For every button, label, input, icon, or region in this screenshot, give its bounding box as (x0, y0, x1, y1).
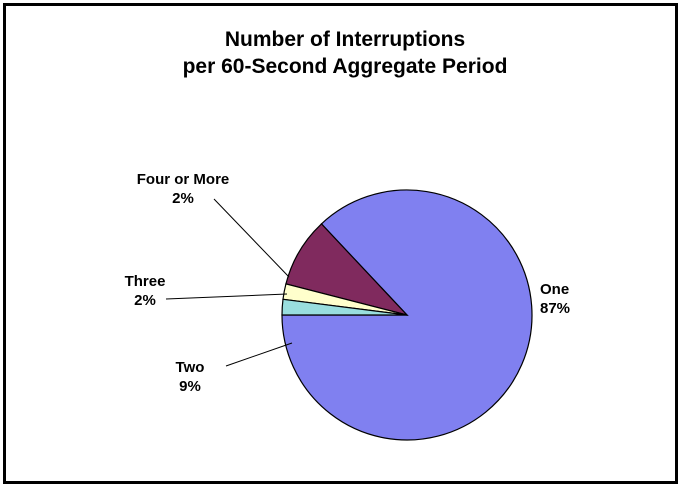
pie-label-two-value: 9% (150, 377, 230, 396)
pie-chart-figure: Number of Interruptions per 60-Second Ag… (0, 0, 690, 491)
pie-label-one: One 87% (540, 280, 650, 318)
pie-label-four-or-more: Four or More 2% (118, 170, 248, 208)
pie-label-three: Three 2% (105, 272, 185, 310)
pie-label-one-value: 87% (540, 299, 650, 318)
leader-line-four-or-more (214, 199, 289, 277)
pie-chart-graphic (0, 0, 690, 491)
pie-label-one-name: One (540, 280, 650, 299)
pie-label-three-name: Three (105, 272, 185, 291)
pie-label-three-value: 2% (105, 291, 185, 310)
pie-label-two: Two 9% (150, 358, 230, 396)
pie-label-four-or-more-value: 2% (118, 189, 248, 208)
leader-line-two (226, 343, 292, 366)
pie-label-four-or-more-name: Four or More (118, 170, 248, 189)
pie-label-two-name: Two (150, 358, 230, 377)
